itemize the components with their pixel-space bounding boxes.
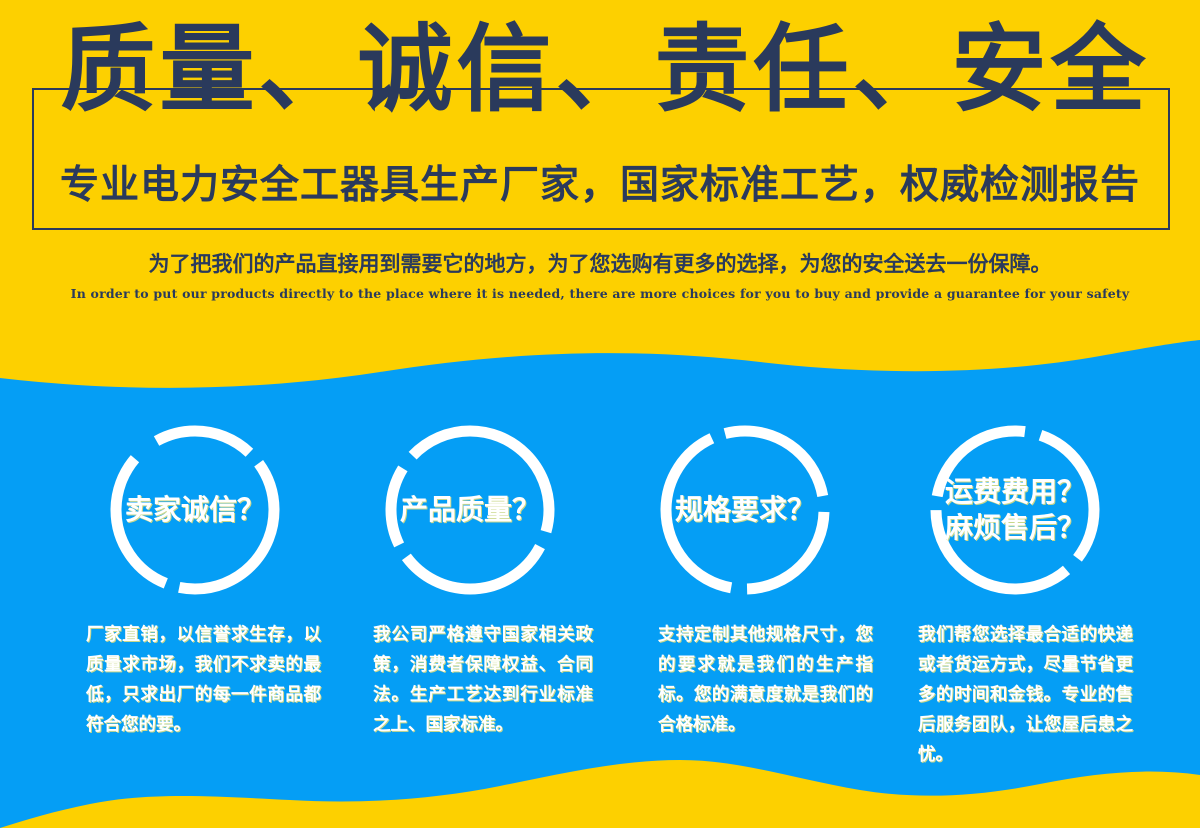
feature-title-line1: 卖家诚信？	[125, 492, 265, 528]
page-subtitle: 专业电力安全工器具生产厂家，国家标准工艺，权威检测报告	[0, 158, 1200, 212]
feature-ring: 产品质量？	[380, 420, 560, 600]
feature-ring: 规格要求？	[655, 420, 835, 600]
feature-title-line1: 产品质量？	[400, 492, 540, 528]
header-section: 质量、诚信、责任、安全 专业电力安全工器具生产厂家，国家标准工艺，权威检测报告 …	[0, 0, 1200, 330]
tagline-chinese: 为了把我们的产品直接用到需要它的地方，为了您选购有更多的选择，为您的安全送去一份…	[0, 250, 1200, 278]
feature-card: 运费费用？ 麻烦售后？ 我们帮您选择最合适的快递或者货运方式，尽量节省更多的时间…	[870, 420, 1160, 800]
banner-canvas: 质量、诚信、责任、安全 专业电力安全工器具生产厂家，国家标准工艺，权威检测报告 …	[0, 0, 1200, 828]
feature-description: 支持定制其他规格尺寸，您的要求就是我们的生产指标。您的满意度就是我们的合格标准。	[658, 620, 873, 740]
feature-title-line1: 运费费用？	[945, 474, 1085, 510]
feature-ring: 卖家诚信？	[105, 420, 285, 600]
feature-title: 运费费用？ 麻烦售后？	[905, 420, 1125, 600]
tagline-english: In order to put our products directly to…	[0, 285, 1200, 302]
feature-list: 卖家诚信？ 厂家直销，以信誉求生存，以质量求市场，我们不求卖的最低，只求出厂的每…	[0, 420, 1200, 820]
feature-card: 规格要求？ 支持定制其他规格尺寸，您的要求就是我们的生产指标。您的满意度就是我们…	[600, 420, 890, 800]
feature-title: 规格要求？	[635, 420, 855, 600]
feature-title-line1: 规格要求？	[675, 492, 815, 528]
feature-description: 我们帮您选择最合适的快递或者货运方式，尽量节省更多的时间和金钱。专业的售后服务团…	[918, 620, 1133, 770]
feature-title-line2: 麻烦售后？	[945, 510, 1085, 546]
feature-card: 卖家诚信？ 厂家直销，以信誉求生存，以质量求市场，我们不求卖的最低，只求出厂的每…	[50, 420, 340, 800]
feature-description: 我公司严格遵守国家相关政策，消费者保障权益、合同法。生产工艺达到行业标准之上、国…	[373, 620, 593, 740]
feature-title: 卖家诚信？	[85, 420, 305, 600]
feature-description: 厂家直销，以信誉求生存，以质量求市场，我们不求卖的最低，只求出厂的每一件商品都符…	[86, 620, 321, 740]
feature-card: 产品质量？ 我公司严格遵守国家相关政策，消费者保障权益、合同法。生产工艺达到行业…	[325, 420, 615, 800]
feature-ring: 运费费用？ 麻烦售后？	[925, 420, 1105, 600]
page-title: 质量、诚信、责任、安全	[60, 22, 1150, 117]
feature-title: 产品质量？	[360, 420, 580, 600]
